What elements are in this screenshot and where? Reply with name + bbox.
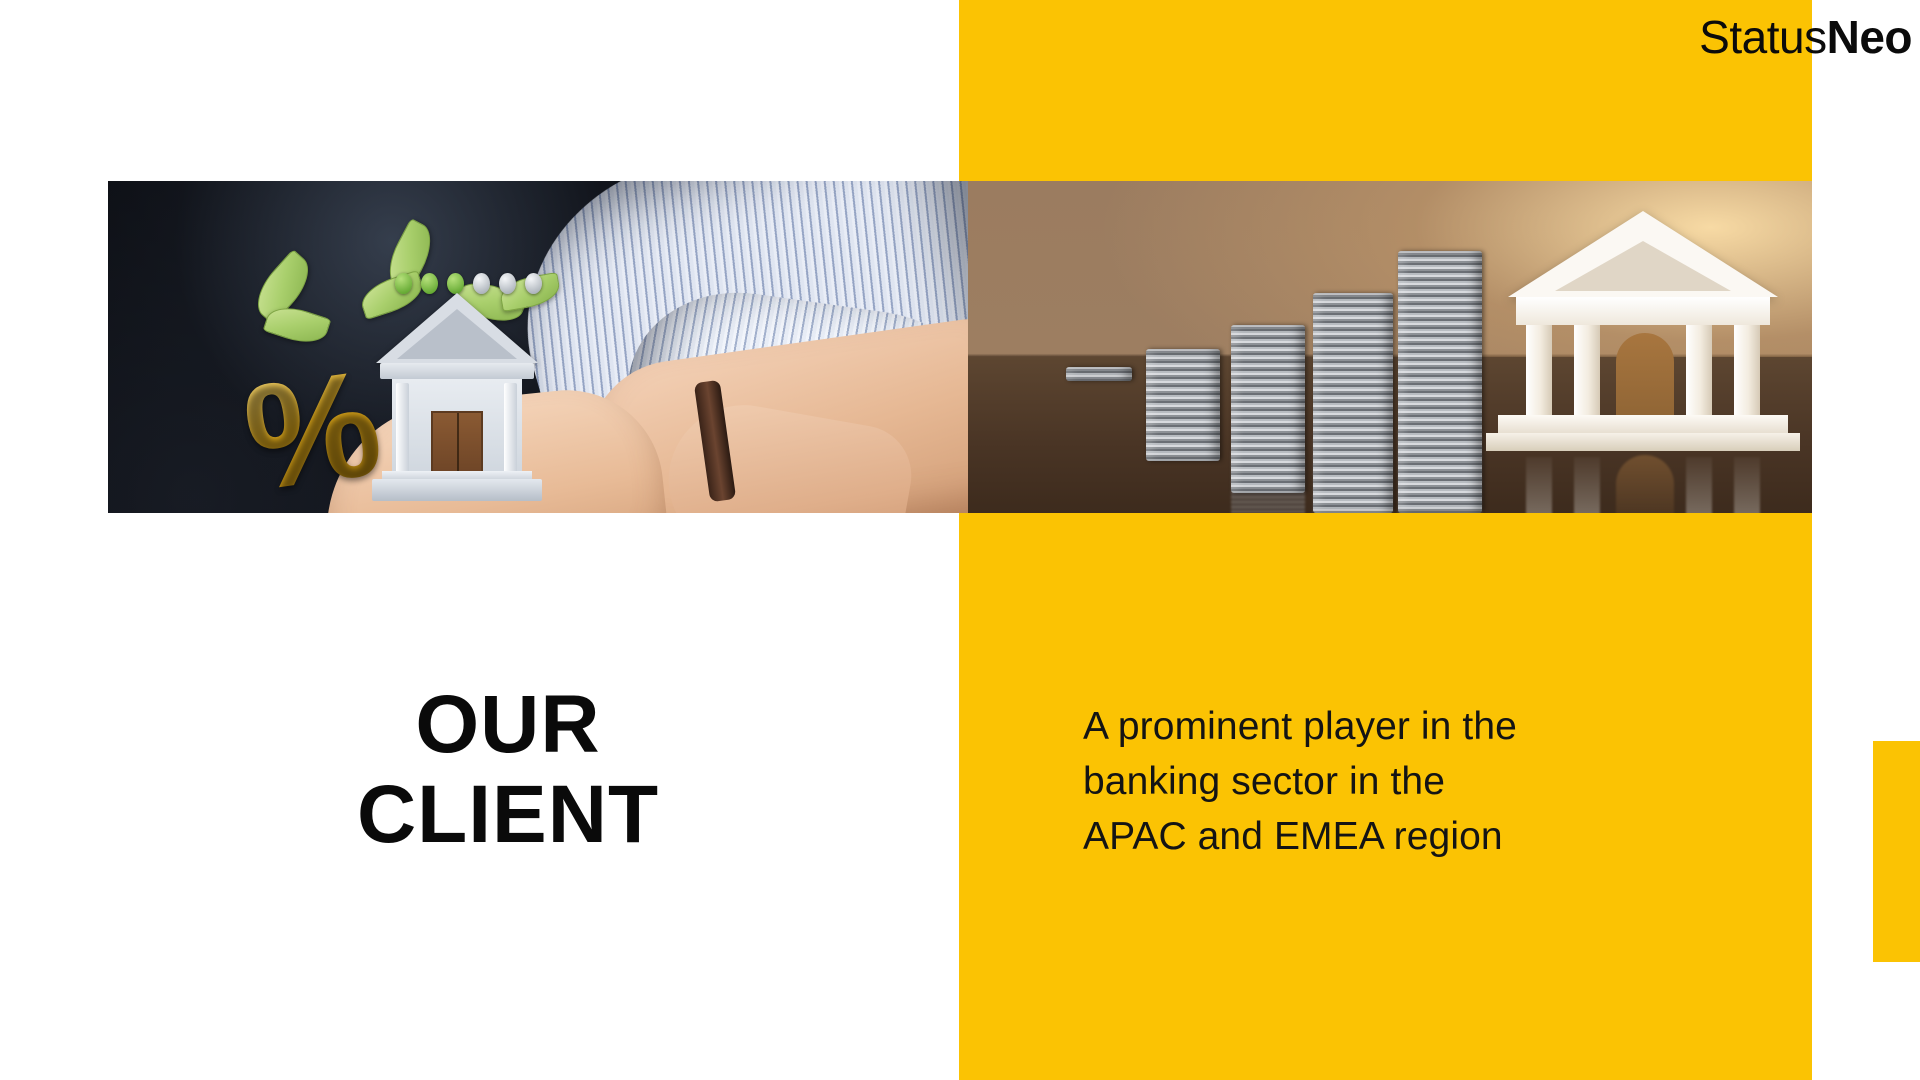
coin-stack [1231,325,1305,493]
logo-neo-text: Neo [1827,11,1912,63]
model-column [1574,325,1600,417]
image-band: % [108,181,1812,513]
bank-model-reflection [1508,443,1778,513]
progress-dot-active [395,273,412,294]
reflection-column [1734,457,1760,513]
model-column [1526,325,1552,417]
coin-stack [1313,293,1393,513]
bank-column [396,383,409,475]
logo-status-text: Status [1699,11,1826,63]
client-description-line-3: APAC and EMEA region [1083,810,1703,865]
reflection-arch [1616,455,1674,513]
bank-entablature [380,363,534,379]
model-base-upper [1498,415,1788,435]
model-roof-inner [1555,241,1731,291]
brand-logo: StatusNeo [1699,14,1912,60]
coin-stack [1146,349,1220,461]
coin-stack [1398,251,1482,513]
progress-dot-inactive [473,273,490,294]
reflection-column [1686,457,1712,513]
page-title-line-2: CLIENT [108,770,908,860]
progress-dot-active [421,273,438,294]
bank-building-icon [376,293,538,501]
bank-door [431,411,483,479]
bank-column [504,383,517,475]
client-description-line-1: A prominent player in the [1083,700,1703,755]
model-column [1734,325,1760,417]
model-column [1686,325,1712,417]
client-description: A prominent player in the banking sector… [1083,700,1703,865]
bank-base [372,479,542,501]
reflection-column [1574,457,1600,513]
progress-dot-inactive [525,273,542,294]
left-photo-bank-in-hand: % [108,181,968,513]
coin-stack [1066,367,1132,381]
progress-dots [395,273,542,294]
model-entablature [1516,297,1770,325]
percent-symbol-icon: % [236,346,389,513]
reflection-column [1526,457,1552,513]
page-title-line-1: OUR [108,680,908,770]
bank-roof-inner [397,309,517,359]
right-photo-coins-and-bank [968,181,1812,513]
right-edge-accent-bar [1873,741,1920,962]
progress-dot-inactive [499,273,516,294]
right-yellow-panel [959,0,1812,1080]
client-description-line-2: banking sector in the [1083,755,1703,810]
page-title: OUR CLIENT [108,680,908,860]
progress-dot-active [447,273,464,294]
bank-model-building [1508,211,1778,451]
model-base [1486,433,1800,451]
slide-root: StatusNeo [0,0,1920,1080]
